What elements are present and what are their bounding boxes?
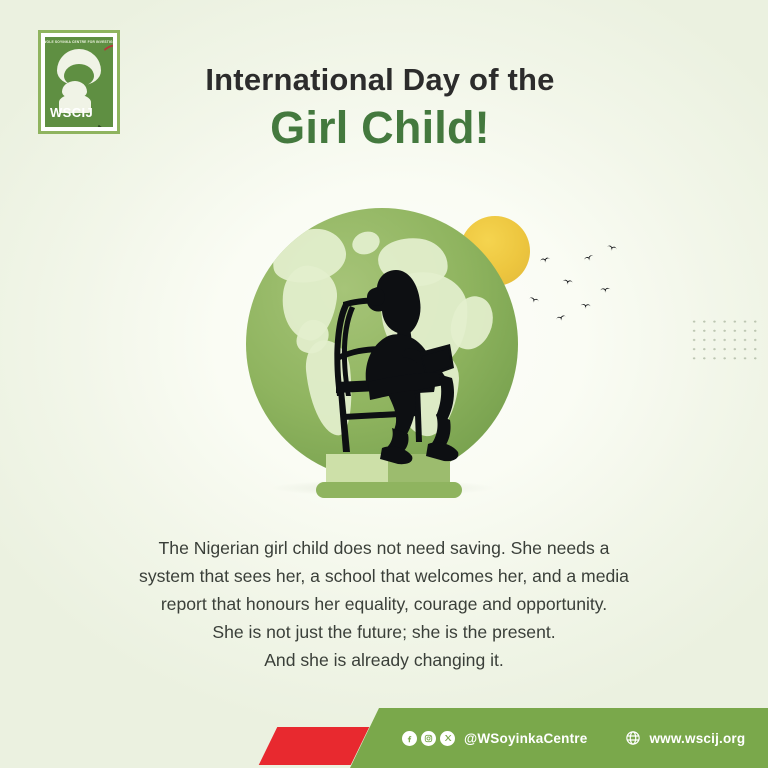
dot-grid-decoration bbox=[688, 316, 764, 364]
illustration bbox=[228, 198, 648, 508]
bird-icon bbox=[562, 279, 574, 287]
x-icon[interactable] bbox=[440, 731, 455, 746]
globe-icon bbox=[625, 730, 641, 746]
page-title-line1: International Day of the bbox=[130, 62, 630, 98]
bird-icon bbox=[583, 254, 596, 265]
instagram-icon[interactable] bbox=[421, 731, 436, 746]
body-copy: The Nigerian girl child does not need sa… bbox=[78, 534, 690, 674]
girl-reading-silhouette bbox=[310, 256, 510, 466]
social-icon-group bbox=[402, 731, 455, 746]
pedestal-base bbox=[316, 482, 462, 498]
bird-icon bbox=[555, 315, 568, 325]
headline-block: International Day of the Girl Child! bbox=[130, 62, 630, 153]
body-line-4: She is not just the future; she is the p… bbox=[78, 618, 690, 646]
bird-icon bbox=[527, 296, 540, 306]
poster-canvas: WOLE SOYINKA CENTRE FOR INVESTIGATIVE JO… bbox=[0, 0, 768, 768]
body-line-3: report that honours her equality, courag… bbox=[78, 590, 690, 618]
footer-green-bar: @WSoyinkaCentre www.wscij.org bbox=[350, 708, 768, 768]
footer-bar: @WSoyinkaCentre www.wscij.org bbox=[0, 696, 768, 768]
bird-icon bbox=[580, 304, 591, 312]
website-url-text[interactable]: www.wscij.org bbox=[649, 731, 745, 746]
body-line-2: system that sees her, a school that welc… bbox=[78, 562, 690, 590]
logo-artwork: WOLE SOYINKA CENTRE FOR INVESTIGATIVE JO… bbox=[45, 37, 113, 127]
bird-icon bbox=[600, 287, 612, 295]
footer-red-accent bbox=[259, 727, 370, 765]
wscij-logo[interactable]: WOLE SOYINKA CENTRE FOR INVESTIGATIVE JO… bbox=[38, 30, 120, 134]
body-line-1: The Nigerian girl child does not need sa… bbox=[78, 534, 690, 562]
logo-wordmark: WSCIJ bbox=[50, 105, 93, 120]
page-title-line2: Girl Child! bbox=[130, 102, 630, 154]
bird-icon bbox=[539, 257, 551, 266]
social-handle-text[interactable]: @WSoyinkaCentre bbox=[464, 731, 587, 746]
logo-topline-text: WOLE SOYINKA CENTRE FOR INVESTIGATIVE JO… bbox=[45, 40, 113, 44]
facebook-icon[interactable] bbox=[402, 731, 417, 746]
bird-icon bbox=[605, 245, 617, 254]
body-line-5: And she is already changing it. bbox=[78, 646, 690, 674]
landmass-greenland bbox=[349, 228, 383, 258]
footer-content: @WSoyinkaCentre www.wscij.org bbox=[350, 708, 768, 768]
